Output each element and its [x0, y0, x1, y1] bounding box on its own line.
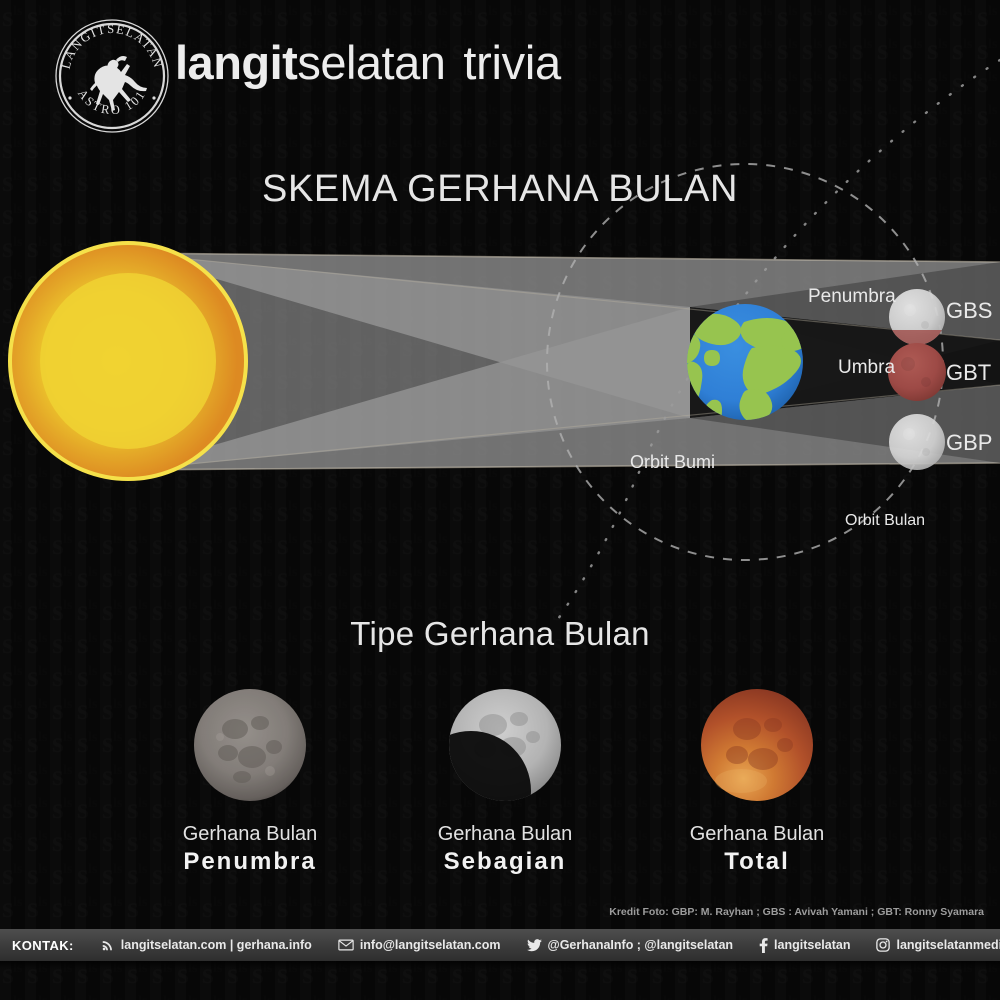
- moon-penumbral-photo-icon: [190, 685, 310, 805]
- footer-item-label: info@langitselatan.com: [360, 938, 501, 952]
- footer-item-label: @GerhanaInfo ; @langitselatan: [548, 938, 734, 952]
- type-caption-line1: Gerhana Bulan: [375, 823, 635, 846]
- infographic-poster: s ls: [0, 0, 1000, 1000]
- moon-gbt-body: [888, 343, 946, 401]
- type-caption-line2: Penumbra: [120, 848, 380, 876]
- header: LANGITSELATAN ASTRO 101 langitselatantri…: [0, 0, 1000, 140]
- facebook-icon: [759, 938, 768, 953]
- rss-icon: [101, 938, 115, 952]
- type-caption-line2: Sebagian: [375, 848, 635, 876]
- label-penumbra: Penumbra: [808, 286, 896, 308]
- footer-item-twitter[interactable]: @GerhanaInfo ; @langitselatan: [514, 929, 747, 961]
- label-gbp: GBP: [946, 430, 992, 456]
- instagram-icon: [876, 938, 890, 952]
- label-umbra: Umbra: [838, 357, 895, 379]
- wordmark-bold: langit: [175, 36, 297, 89]
- footer-item-label: langitselatanmedia: [896, 938, 1000, 952]
- langitselatan-seal-logo[interactable]: LANGITSELATAN ASTRO 101: [52, 16, 172, 136]
- label-orbit-bulan: Orbit Bulan: [845, 512, 925, 530]
- wordmark-trivia: trivia: [463, 36, 560, 89]
- types-title: Tipe Gerhana Bulan: [0, 615, 1000, 653]
- footer-item-facebook[interactable]: langitselatan: [746, 929, 863, 961]
- type-caption-line1: Gerhana Bulan: [120, 823, 380, 846]
- footer-contact-bar: KONTAK: langitselatan.com | gerhana.info…: [0, 929, 1000, 961]
- type-card-total: Gerhana Bulan Total: [627, 685, 887, 876]
- type-card-penumbra: Gerhana Bulan Penumbra: [120, 685, 380, 876]
- footer-item-instagram[interactable]: langitselatanmedia: [863, 929, 1000, 961]
- wordmark: langitselatantrivia: [175, 39, 561, 86]
- scheme-title: SKEMA GERHANA BULAN: [0, 168, 1000, 211]
- twitter-icon: [527, 939, 542, 952]
- photo-credit: Kredit Foto: GBP: M. Rayhan ; GBS : Aviv…: [609, 906, 984, 918]
- label-gbs: GBS: [946, 298, 992, 324]
- footer-kontak-label: KONTAK:: [0, 938, 88, 953]
- type-caption-line1: Gerhana Bulan: [627, 823, 887, 846]
- footer-item-email[interactable]: info@langitselatan.com: [325, 929, 514, 961]
- type-caption-line2: Total: [627, 848, 887, 876]
- moon-gbp-body: [889, 414, 945, 470]
- footer-item-label: langitselatan: [774, 938, 850, 952]
- footer-shadow: [0, 961, 1000, 969]
- wordmark-light: selatan: [297, 36, 445, 89]
- type-card-sebagian: Gerhana Bulan Sebagian: [375, 685, 635, 876]
- sun-body: [8, 241, 248, 481]
- footer-item-label: langitselatan.com | gerhana.info: [121, 938, 312, 952]
- mail-icon: [338, 938, 354, 952]
- footer-item-website[interactable]: langitselatan.com | gerhana.info: [88, 929, 325, 961]
- moon-partial-photo-icon: [445, 685, 565, 805]
- label-orbit-bumi: Orbit Bumi: [630, 452, 715, 473]
- label-gbt: GBT: [946, 360, 991, 386]
- moon-total-photo-icon: [697, 685, 817, 805]
